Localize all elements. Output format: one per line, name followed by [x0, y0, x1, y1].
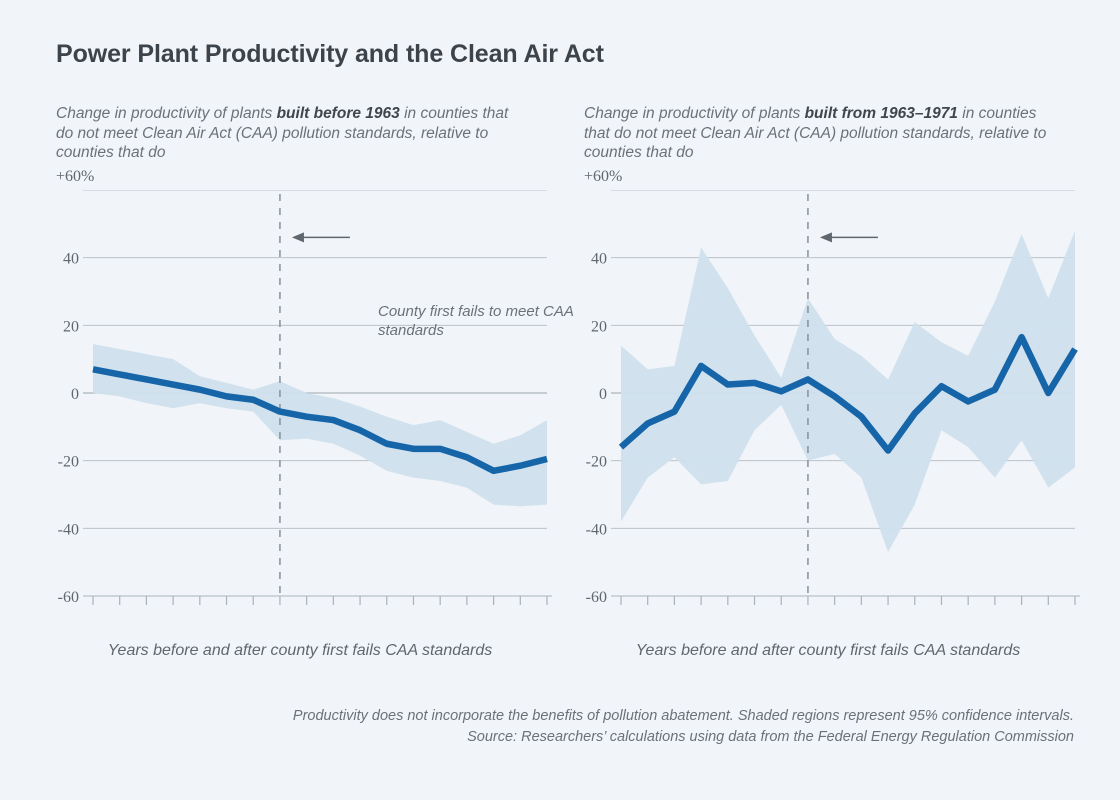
chart-panel-right: Change in productivity of plants built f… [568, 104, 1088, 674]
ytick-label-0: 0 [599, 386, 607, 403]
panel-right-xaxis-title: Years before and after county first fail… [568, 642, 1088, 660]
subtitle-pre: Change in productivity of plants [584, 105, 805, 122]
ytick-label--60: -60 [58, 589, 79, 606]
ytick-label--40: -40 [586, 521, 607, 538]
panel-left-plot: -60-40-2002040-6-4-20246810 [40, 190, 560, 610]
panel-right-plot: -60-40-2002040-6-4-20246810 [568, 190, 1088, 610]
ytick-label-40: 40 [63, 251, 79, 268]
ytick-label-40: 40 [591, 251, 607, 268]
plot-svg: -60-40-2002040-6-4-20246810 [40, 190, 560, 610]
plot-svg: -60-40-2002040-6-4-20246810 [568, 190, 1088, 610]
ytick-label--40: -40 [58, 521, 79, 538]
panel-right-subtitle: Change in productivity of plants built f… [584, 104, 1054, 163]
chart-panel-left: Change in productivity of plants built b… [40, 104, 560, 674]
panel-left-top-axis-label: +60% [56, 168, 94, 186]
subtitle-pre: Change in productivity of plants [56, 105, 277, 122]
page-title: Power Plant Productivity and the Clean A… [56, 40, 604, 69]
panel-right-top-axis-label: +60% [584, 168, 622, 186]
footnote-line-1: Productivity does not incorporate the be… [60, 706, 1074, 727]
ytick-label-20: 20 [63, 318, 79, 335]
annotation-arrow-head [820, 232, 832, 242]
ytick-label--20: -20 [586, 454, 607, 471]
ytick-label-0: 0 [71, 386, 79, 403]
panel-left-subtitle: Change in productivity of plants built b… [56, 104, 526, 163]
subtitle-emphasis: built from 1963–1971 [805, 105, 958, 122]
panel-left-xaxis-title: Years before and after county first fail… [40, 642, 560, 660]
footnote: Productivity does not incorporate the be… [60, 706, 1074, 748]
ytick-label--20: -20 [58, 454, 79, 471]
ytick-label--60: -60 [586, 589, 607, 606]
annotation-arrow-head [292, 232, 304, 242]
chart-figure: Power Plant Productivity and the Clean A… [0, 0, 1120, 800]
ytick-label-20: 20 [591, 318, 607, 335]
subtitle-emphasis: built before 1963 [277, 105, 400, 122]
confidence-band [93, 344, 547, 506]
footnote-line-2: Source: Researchers’ calculations using … [60, 727, 1074, 748]
